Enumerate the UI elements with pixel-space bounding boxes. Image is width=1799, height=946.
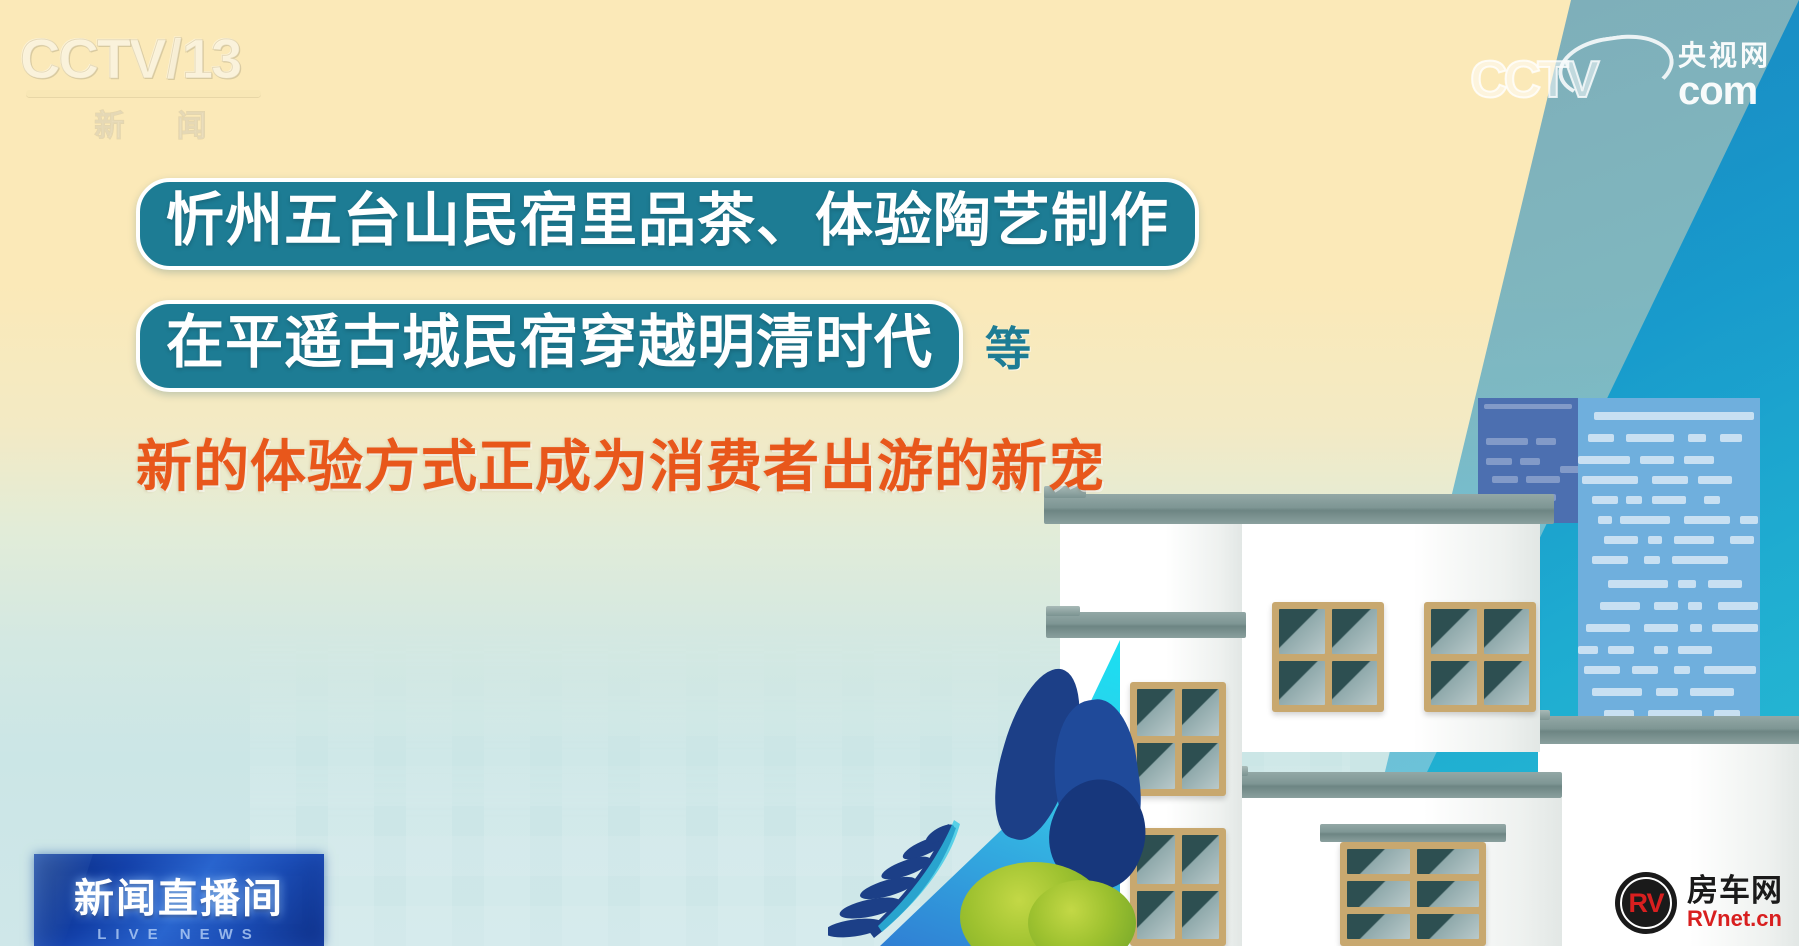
tower-window [1712, 624, 1758, 632]
headline-row-2: 在平遥古城民宿穿越明清时代 等 [136, 300, 1199, 392]
tower-window [1644, 624, 1678, 632]
window-pane [1137, 743, 1175, 790]
door-pane [1347, 849, 1410, 874]
tower-window [1708, 580, 1742, 588]
cctvcom-logo: CCTV 央视网 com [1470, 36, 1771, 112]
tower-window [1594, 412, 1754, 420]
cctv13-wordmark: CCTV/13 [20, 30, 285, 88]
headline-suffix: 等 [985, 313, 1031, 379]
tower-window [1730, 536, 1754, 544]
tower-window [1578, 646, 1598, 654]
tower-window [1698, 476, 1732, 484]
cctv13-slash: / [166, 27, 180, 90]
house-door-lintel [1320, 824, 1506, 842]
house-mid-cornice [1210, 772, 1562, 798]
headline-line-2: 在平遥古城民宿穿越明清时代 [166, 310, 933, 376]
window-pane [1431, 661, 1477, 706]
tower-window [1740, 516, 1758, 524]
tower-window [1592, 556, 1628, 564]
window-pane [1431, 609, 1477, 654]
window-pane [1182, 891, 1220, 940]
tower-window [1644, 556, 1660, 564]
tower-window [1652, 476, 1688, 484]
window-pane [1182, 689, 1220, 736]
tower-window [1684, 516, 1730, 524]
broadcast-frame: CCTV/13 新 闻 CCTV 央视网 com 忻州五台山民宿里品茶、体验陶艺… [0, 0, 1799, 946]
live-news-banner: 新闻直播间 LIVE NEWS [34, 854, 324, 946]
tower-window [1654, 602, 1678, 610]
headline-group: 忻州五台山民宿里品茶、体验陶艺制作 在平遥古城民宿穿越明清时代 等 新的体验方式… [136, 178, 1199, 503]
tower-window [1592, 496, 1618, 504]
tower-window [1486, 438, 1528, 445]
tower-window [1582, 476, 1638, 484]
door-pane [1417, 849, 1480, 874]
tower-window [1604, 536, 1638, 544]
rvnet-watermark: RV 房车网 RVnet.cn [1615, 872, 1783, 934]
tower-window [1704, 496, 1720, 504]
tower-window [1586, 624, 1630, 632]
window-pane [1279, 609, 1325, 654]
tower-window [1588, 434, 1614, 442]
window-pane [1182, 743, 1220, 790]
tower-window [1672, 556, 1728, 564]
door-pane [1417, 914, 1480, 939]
door-pane [1347, 914, 1410, 939]
tower-window [1608, 580, 1668, 588]
tower-window [1678, 646, 1712, 654]
tower-window [1690, 688, 1734, 696]
headline-pill-1: 忻州五台山民宿里品茶、体验陶艺制作 [136, 178, 1199, 270]
tower-window [1674, 536, 1714, 544]
tower-window [1578, 456, 1630, 464]
tower-window [1626, 496, 1642, 504]
tower-window [1648, 536, 1662, 544]
tower-window [1536, 438, 1556, 445]
window-pane [1332, 609, 1378, 654]
window-pane [1137, 891, 1175, 940]
window-pane [1332, 661, 1378, 706]
cctvcom-text-group: 央视网 com [1678, 41, 1771, 112]
tower-window [1592, 688, 1642, 696]
tower-window [1678, 580, 1696, 588]
headline-line-3: 新的体验方式正成为消费者出游的新宠 [136, 422, 1199, 503]
tower-window [1486, 458, 1512, 465]
window-pane [1137, 689, 1175, 736]
tower-window [1600, 602, 1640, 610]
tower-window [1520, 458, 1540, 465]
tower-window [1684, 456, 1714, 464]
tower-window [1688, 434, 1706, 442]
window-pane [1484, 661, 1530, 706]
tower-window [1626, 434, 1674, 442]
cctv13-cn-label: 新 闻 [38, 101, 285, 145]
cctvcom-cn-name: 央视网 [1678, 41, 1771, 71]
cctv13-underbar [26, 90, 261, 97]
tower-window [1584, 666, 1620, 674]
window-pane [1182, 835, 1220, 884]
banner-title-cn: 新闻直播间 [34, 866, 324, 924]
cctvcom-domain: com [1678, 71, 1771, 111]
tower-window [1620, 516, 1670, 524]
door-pane [1347, 881, 1410, 906]
tower-window [1640, 456, 1674, 464]
tower-window [1674, 666, 1690, 674]
house-window-left-upper [1130, 682, 1226, 796]
door-pane [1417, 881, 1480, 906]
rv-badge-text: RV [1628, 888, 1663, 919]
rv-text-group: 房车网 RVnet.cn [1687, 875, 1783, 931]
tower-window [1608, 646, 1634, 654]
house-window-left-lower [1130, 828, 1226, 946]
cctv13-watermark: CCTV/13 新 闻 [20, 30, 285, 150]
cctv13-number: 13 [182, 27, 240, 90]
skyscraper-light [1578, 398, 1760, 732]
tower-window [1492, 476, 1518, 483]
house-left-wing-eave-lip [1046, 606, 1080, 616]
tower-window [1718, 602, 1758, 610]
tower-window [1632, 666, 1658, 674]
house-right-wing-eave [1510, 716, 1799, 744]
tower-window [1688, 602, 1702, 610]
rv-badge-icon: RV [1615, 872, 1677, 934]
rv-domain: RVnet.cn [1687, 907, 1783, 931]
tower-window [1704, 666, 1756, 674]
cctvcom-mark: CCTV [1470, 36, 1688, 112]
house-window-upper-left [1272, 602, 1384, 712]
tower-window [1656, 688, 1678, 696]
tower-window [1526, 476, 1560, 483]
cctvcom-cctv-text: CCTV [1470, 50, 1596, 110]
tower-window [1654, 646, 1668, 654]
rv-name-cn: 房车网 [1687, 875, 1783, 907]
house-door[interactable] [1340, 842, 1486, 946]
tower-window [1720, 434, 1742, 442]
tower-window [1484, 404, 1572, 409]
tower-window [1690, 624, 1702, 632]
window-pane [1279, 661, 1325, 706]
tower-window [1652, 496, 1686, 504]
window-pane [1484, 609, 1530, 654]
banner-title-en: LIVE NEWS [34, 926, 324, 943]
house-window-upper-right [1424, 602, 1536, 712]
cctv13-cctv-text: CCTV [20, 27, 164, 90]
tower-window [1598, 516, 1612, 524]
headline-line-1: 忻州五台山民宿里品茶、体验陶艺制作 [166, 188, 1169, 254]
headline-pill-2: 在平遥古城民宿穿越明清时代 [136, 300, 963, 392]
